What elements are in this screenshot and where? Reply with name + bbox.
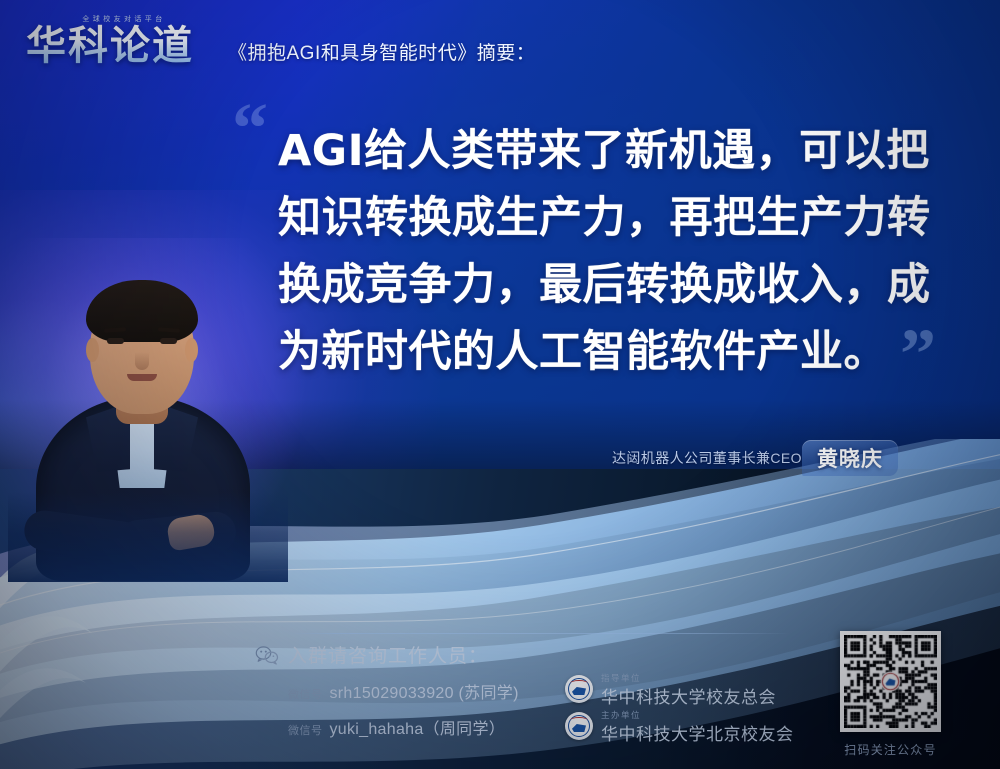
contact-label: 微信号	[288, 689, 323, 701]
contact-value[interactable]: yuki_hahaha（周同学）	[330, 721, 506, 738]
qr-code-icon[interactable]	[840, 631, 941, 732]
quote-line: 为新时代的人工智能软件产业。	[278, 319, 950, 386]
logo-wordmark: 华科论道	[26, 23, 222, 69]
page-title: 《拥抱AGI和具身智能时代》摘要：	[228, 38, 535, 65]
portrait-mouth	[127, 374, 157, 381]
portrait-eye-right	[160, 338, 177, 344]
portrait-ear-left	[86, 338, 99, 362]
poster-canvas: 全球校友对话平台 华科论道 《拥抱AGI和具身智能时代》摘要： “ AGI给人类…	[0, 0, 1000, 769]
quote-line: AGI给人类带来了新机遇，可以把	[278, 118, 950, 185]
contact-row: 微信号yuki_hahaha（周同学）	[288, 715, 505, 739]
quote-close-mark: ”	[900, 330, 936, 378]
portrait-eye-left	[107, 338, 124, 344]
hust-seal-icon	[565, 675, 593, 703]
contact-value[interactable]: srh15029033920 (苏同学)	[330, 685, 519, 702]
quote-text: AGI给人类带来了新机遇，可以把 知识转换成生产力，再把生产力转 换成竞争力，最…	[278, 118, 950, 386]
poster-header: 全球校友对话平台 华科论道 《拥抱AGI和具身智能时代》摘要：	[0, 0, 1000, 84]
seal-arc	[570, 717, 588, 724]
quote-line: 换成竞争力，最后转换成收入，成	[278, 252, 950, 319]
contact-label: 微信号	[288, 725, 323, 737]
qr-code-canvas	[844, 635, 937, 728]
contact-row: 微信号srh15029033920 (苏同学)	[288, 679, 519, 703]
speaker-name: 黄晓庆	[802, 440, 898, 476]
qr-caption: 扫码关注公众号	[840, 741, 941, 758]
seal-arc	[570, 680, 588, 687]
organization-name: 华中科技大学北京校友会	[601, 720, 794, 745]
wechat-icon	[255, 645, 279, 665]
quote-line: 知识转换成生产力，再把生产力转	[278, 185, 950, 252]
hust-seal-icon	[565, 712, 593, 740]
portrait-ear-right	[185, 338, 198, 362]
organization-name: 华中科技大学校友总会	[601, 683, 776, 708]
portrait-bottom-fade	[8, 492, 288, 582]
join-group-title: 入群请咨询工作人员：	[288, 641, 488, 668]
brand-logo: 全球校友对话平台 华科论道	[26, 14, 222, 72]
speaker-role: 达闼机器人公司董事长兼CEO	[612, 448, 802, 468]
footer-divider	[288, 633, 790, 634]
qr-block: 扫码关注公众号	[840, 631, 958, 758]
speaker-name-badge: 黄晓庆	[802, 440, 898, 476]
quote-open-mark: “	[232, 104, 268, 152]
portrait-nose	[135, 352, 149, 370]
speaker-portrait	[18, 268, 266, 568]
